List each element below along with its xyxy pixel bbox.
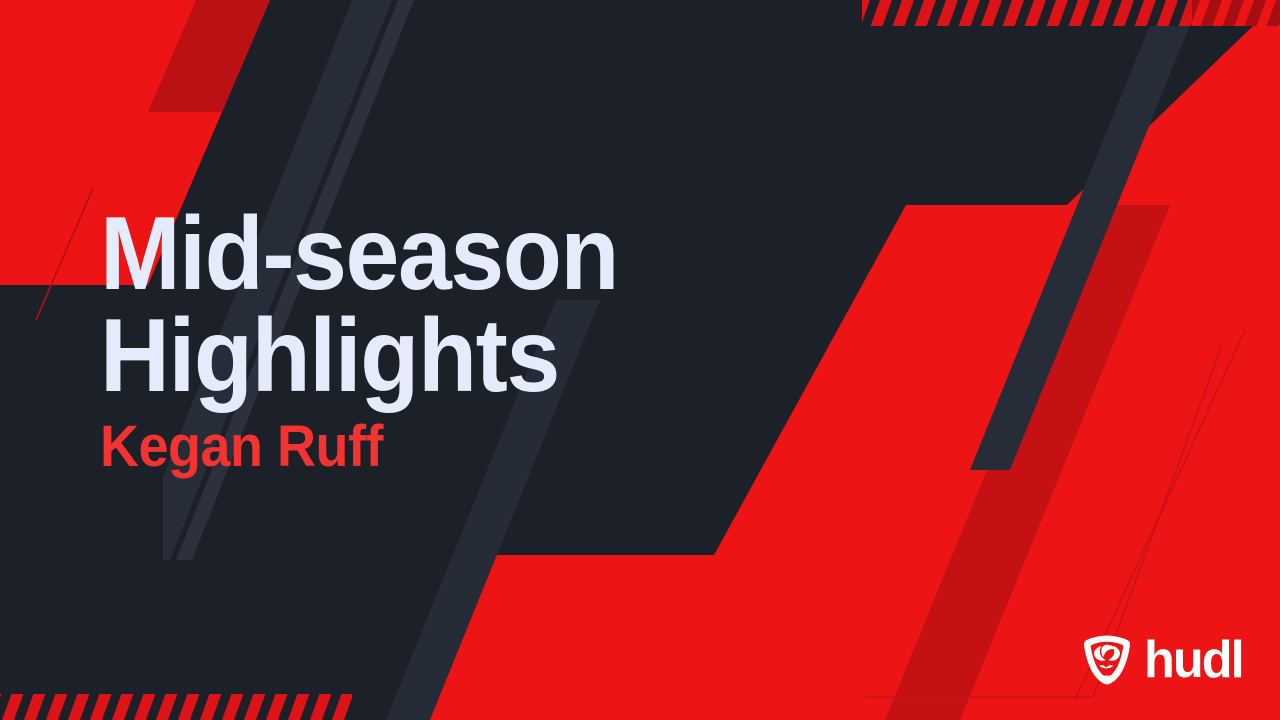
page-title: Mid-season Highlights xyxy=(100,204,807,408)
hudl-logo: hudl xyxy=(1081,634,1246,686)
bottom-stripe-band xyxy=(0,694,352,720)
hudl-wordmark: hudl xyxy=(1144,634,1243,686)
hudl-shield-icon xyxy=(1081,634,1133,686)
top-stripe-band xyxy=(862,0,1280,26)
slide-text-block: Mid-season Highlights Kegan Ruff xyxy=(100,204,860,476)
athlete-name: Kegan Ruff xyxy=(100,418,807,476)
highlight-slide: Mid-season Highlights Kegan Ruff hudl xyxy=(0,0,1280,720)
